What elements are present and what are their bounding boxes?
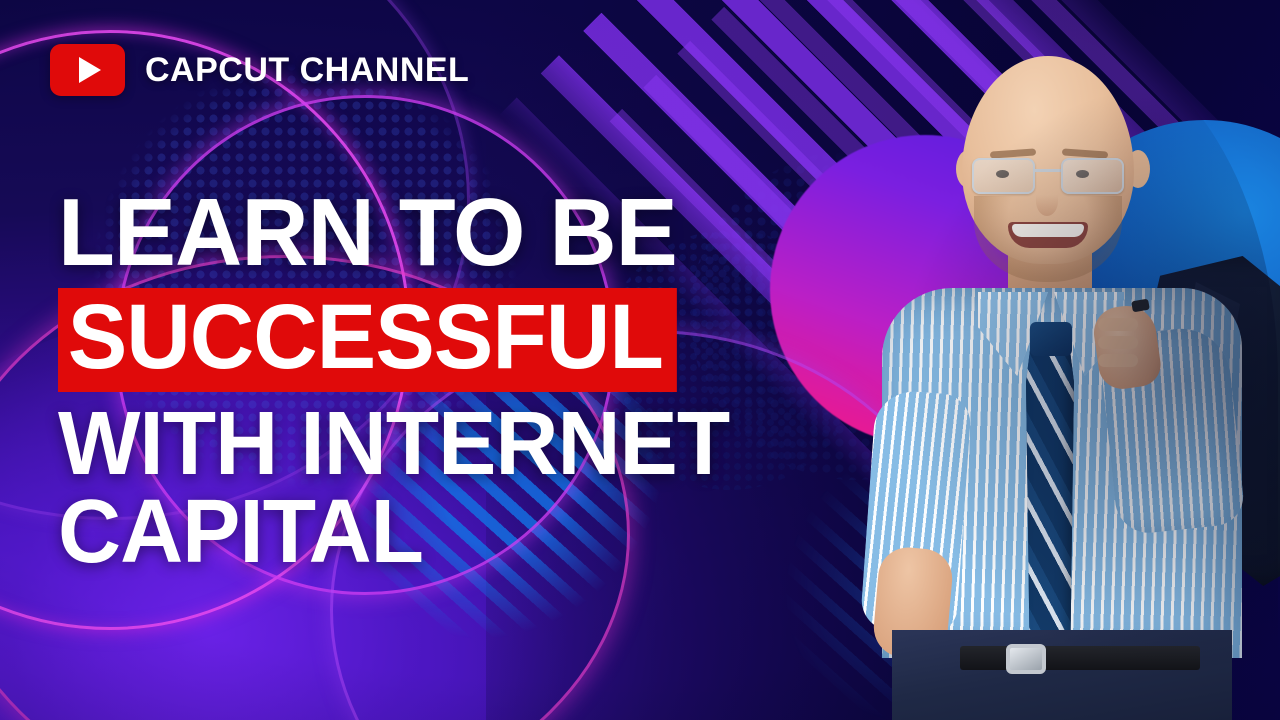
youtube-play-icon[interactable] [50,44,125,96]
mouth [1008,222,1088,248]
thumbnail-canvas: CAPCUT CHANNEL LEARN TO BE SUCCESSFUL WI… [0,0,1280,720]
necktie-knot [1030,322,1072,356]
belt [960,646,1200,670]
headline-highlight-wrap: SUCCESSFUL [58,278,898,395]
headline-highlight: SUCCESSFUL [58,288,676,391]
trousers [892,630,1232,720]
teeth [1012,224,1084,237]
nose [1036,186,1058,216]
belt-buckle [1006,644,1046,674]
channel-name: CAPCUT CHANNEL [145,51,469,90]
lens-left [972,158,1035,194]
headline-block: LEARN TO BE SUCCESSFUL WITH INTERNET CAP… [58,188,898,575]
headline-line-1: LEARN TO BE [58,188,873,278]
finger [1098,354,1138,367]
finger [1098,318,1138,331]
necktie [1026,336,1074,666]
headline-line-3: WITH INTERNET [58,402,873,487]
headline-line-4: CAPITAL [58,490,873,575]
play-triangle [79,57,101,83]
channel-logo-row[interactable]: CAPCUT CHANNEL [50,44,469,96]
lens-right [1061,158,1124,194]
lens-bridge [1035,169,1061,172]
finger [1098,336,1138,349]
subject-photo [840,0,1280,720]
